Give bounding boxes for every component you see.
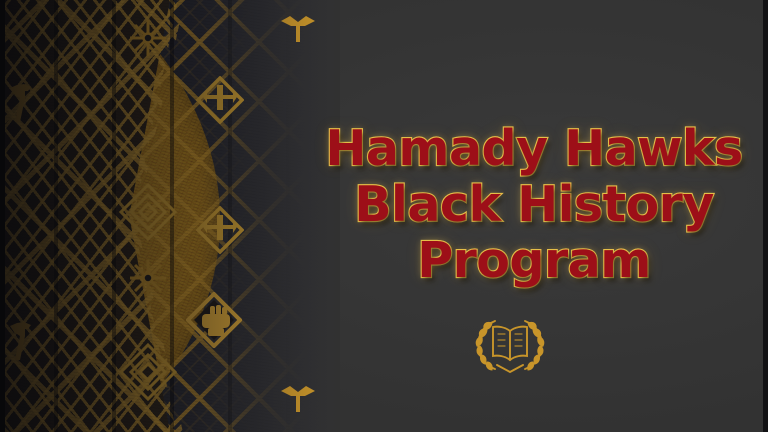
page-title: Hamady Hawks Black History Program: [324, 121, 744, 289]
concentric-diamond-motif: [118, 342, 178, 402]
left-edge-border: [0, 0, 5, 432]
laurel-wreath-open-book-emblem: [470, 312, 550, 374]
african-pattern-band: [0, 0, 340, 432]
concentric-diamond-motif: [118, 182, 178, 242]
cross-diamond-motif: [196, 76, 244, 124]
right-edge-border: [763, 0, 768, 432]
cross-diamond-motif: [196, 206, 244, 254]
star-burst-motif: [126, 16, 170, 60]
raised-fist-motif: [186, 292, 242, 348]
black-history-program-title-card: Hamady Hawks Black History Program: [0, 0, 768, 432]
title-line-1: Hamady Hawks: [324, 121, 744, 177]
bird-motif: [275, 8, 321, 54]
star-burst-motif: [126, 256, 170, 300]
bird-motif: [275, 378, 321, 424]
title-line-2: Black History: [324, 177, 744, 233]
bird-motif: [4, 316, 38, 364]
title-line-3: Program: [324, 233, 744, 289]
bird-motif: [4, 78, 38, 126]
